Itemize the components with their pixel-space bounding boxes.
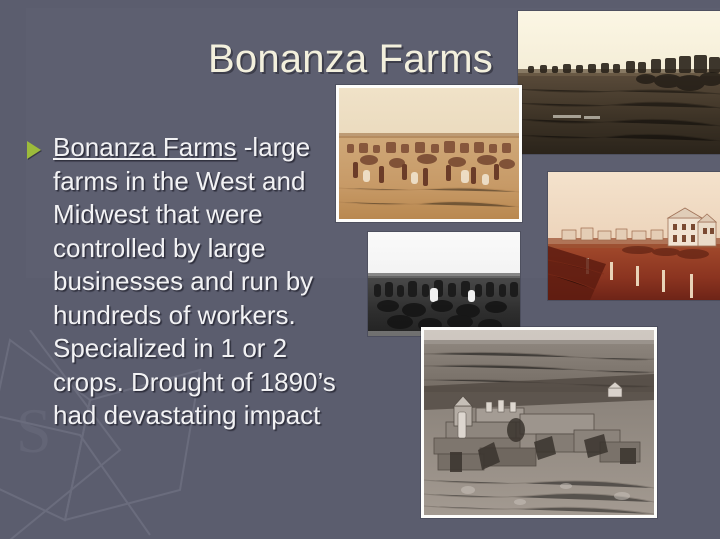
frontier-town-photo <box>548 172 720 300</box>
plowing-horse-teams-photo <box>518 11 720 154</box>
livestock-herd-photo <box>368 232 520 336</box>
list-item: Bonanza Farms -large farms in the West a… <box>20 131 350 433</box>
bullet-paragraph: Bonanza Farms -large farms in the West a… <box>53 132 336 430</box>
wheat-harvest-photo <box>336 85 522 222</box>
page-title: Bonanza Farms <box>208 36 528 82</box>
body-content: Bonanza Farms -large farms in the West a… <box>20 131 350 433</box>
presentation-slide: S Bonanza Farms Bonanza Farms -large far… <box>0 0 720 539</box>
aerial-farm-complex-photo <box>421 327 657 518</box>
bullet-term: Bonanza Farms <box>53 132 237 162</box>
bullet-body: -large farms in the West and Midwest tha… <box>53 132 336 430</box>
green-triangle-bullet-icon <box>27 141 41 159</box>
